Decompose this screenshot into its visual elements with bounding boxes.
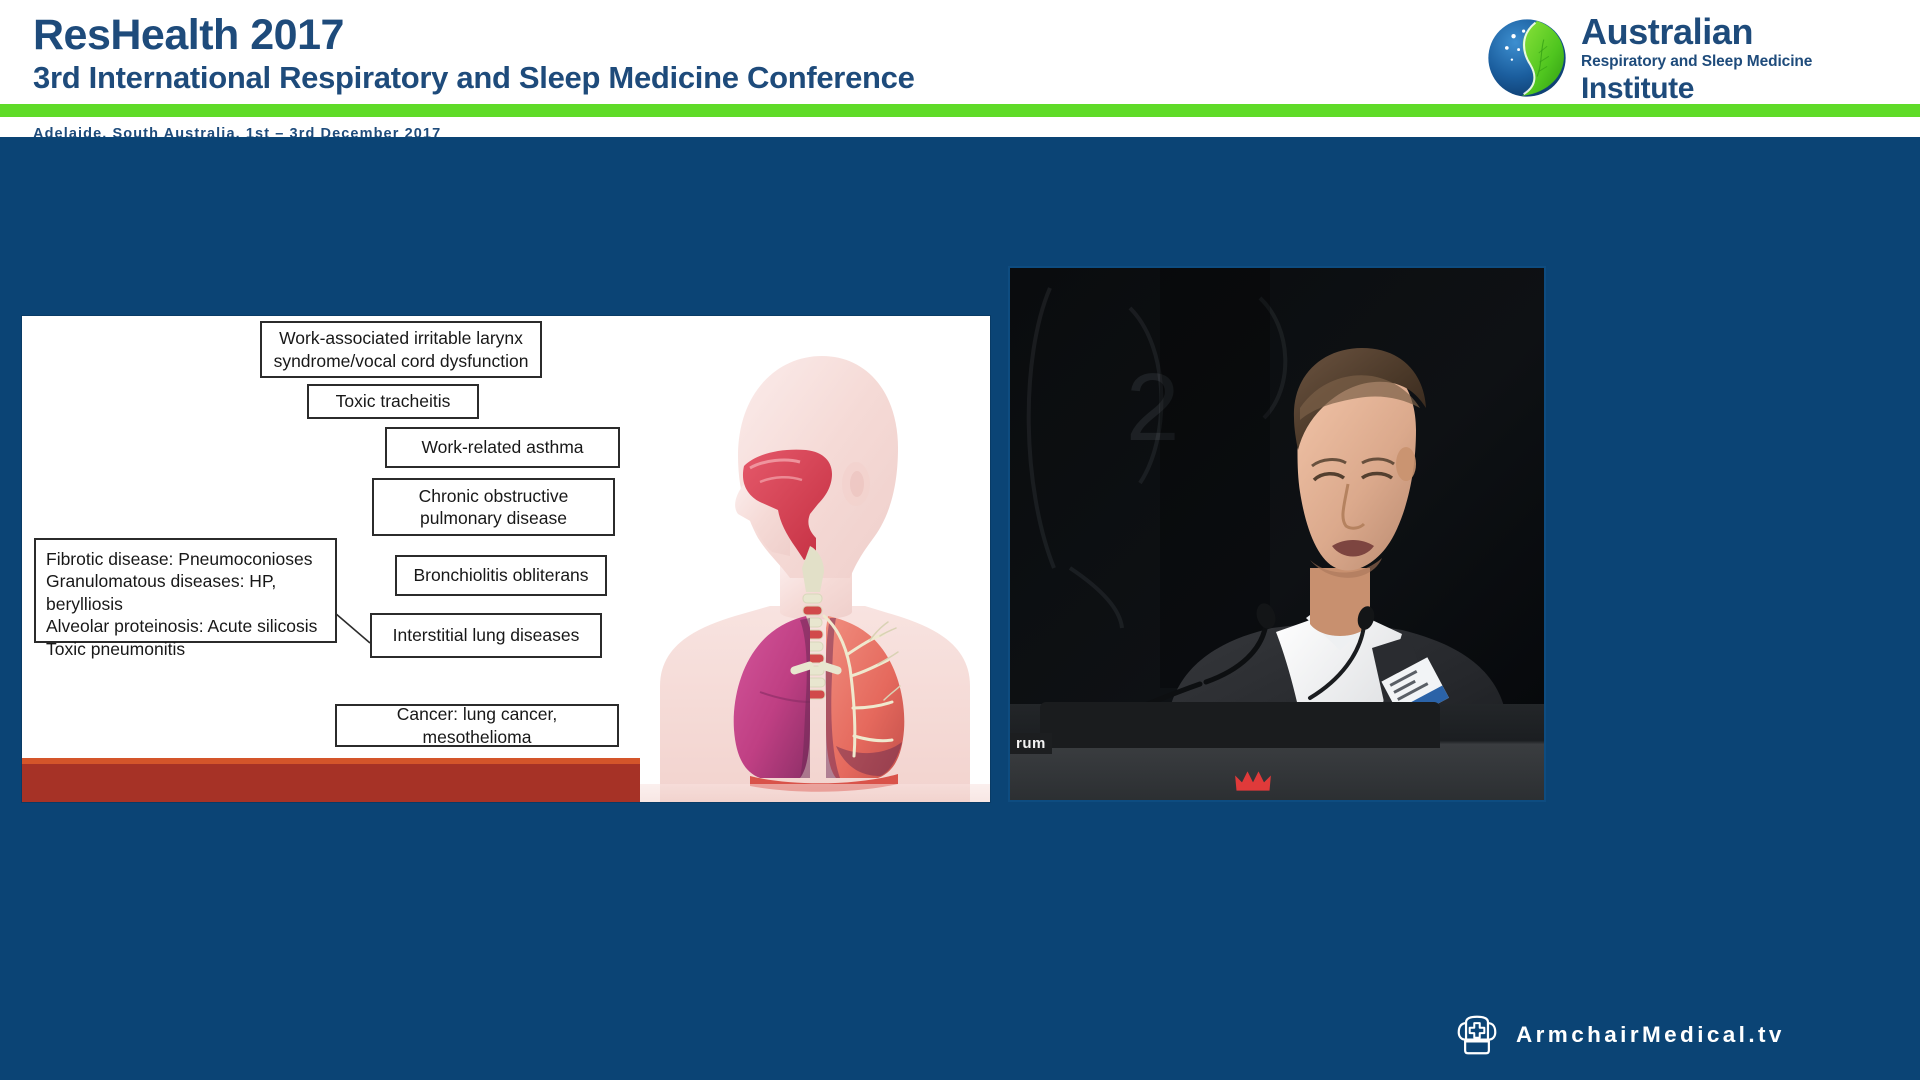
diagram-box-toxic-tracheitis[interactable]: Toxic tracheitis	[307, 384, 479, 419]
conference-location: Adelaide, South Australia. 1st – 3rd Dec…	[33, 126, 441, 137]
footer-brand-text: ArmchairMedical.tv	[1516, 1022, 1785, 1048]
box-label: Cancer: lung cancer, mesothelioma	[345, 703, 609, 748]
logo-line-respiratory: Respiratory and Sleep Medicine	[1581, 54, 1812, 70]
lectern	[1008, 704, 1546, 800]
box-label: Toxic tracheitis	[336, 390, 451, 412]
diagram-box-copd[interactable]: Chronic obstructive pulmonary disease	[372, 478, 615, 536]
detail-line: Fibrotic disease: Pneumoconioses	[46, 548, 317, 570]
box-label: Work-associated irritable larynx syndrom…	[270, 327, 532, 372]
diagram-box-bronchiolitis-obliterans[interactable]: Bronchiolitis obliterans	[395, 555, 607, 596]
diagram-box-work-related-asthma[interactable]: Work-related asthma	[385, 427, 620, 468]
header-accent-bar	[0, 104, 1920, 117]
slide-content: Occupational rhinitis: allergic / irrita…	[22, 316, 990, 802]
box-label: Bronchiolitis obliterans	[413, 564, 588, 586]
page-title: ResHealth 2017	[33, 14, 344, 57]
box-label: Interstitial lung diseases	[393, 624, 580, 646]
detail-line: Toxic pneumonitis	[46, 638, 317, 660]
logo-line-australian: Australian	[1581, 14, 1812, 50]
diagram-box-interstitial-lung-diseases[interactable]: Interstitial lung diseases	[370, 613, 602, 658]
presentation-viewer: ResHealth 2017 3rd International Respira…	[0, 0, 1920, 1080]
diagram-box-fibrotic-detail[interactable]: Fibrotic disease: Pneumoconioses Granulo…	[34, 538, 337, 643]
lectern-label: rum	[1010, 733, 1052, 754]
speaker-video-panel[interactable]: 2	[1008, 266, 1546, 802]
logo-line-institute: Institute	[1581, 74, 1812, 104]
arsi-logo-text: Australian Respiratory and Sleep Medicin…	[1581, 14, 1812, 104]
anatomy-svg	[640, 316, 990, 802]
slide-footer-bar-highlight	[22, 758, 642, 764]
slide-footer-bar	[22, 758, 642, 802]
footer-branding: ArmchairMedical.tv	[1455, 1012, 1785, 1058]
detail-line: Alveolar proteinosis: Acute silicosis	[46, 615, 317, 637]
fibrotic-detail-lines: Fibrotic disease: Pneumoconioses Granulo…	[46, 548, 317, 660]
arsi-yinyang-icon	[1485, 16, 1569, 100]
respiratory-anatomy-illustration	[640, 316, 990, 802]
box-label: Chronic obstructive pulmonary disease	[382, 485, 605, 530]
arsi-logo: Australian Respiratory and Sleep Medicin…	[1485, 14, 1895, 102]
crown-crest-icon	[1232, 770, 1274, 792]
conference-subtitle: 3rd International Respiratory and Sleep …	[33, 62, 915, 93]
lectern-top-panel	[1040, 702, 1440, 748]
box-label: Work-related asthma	[421, 436, 583, 458]
diagram-box-irritable-larynx[interactable]: Work-associated irritable larynx syndrom…	[260, 321, 542, 378]
conference-header: ResHealth 2017 3rd International Respira…	[0, 0, 1920, 137]
diagram-box-cancer[interactable]: Cancer: lung cancer, mesothelioma	[335, 704, 619, 747]
detail-line: berylliosis	[46, 593, 317, 615]
armchair-medical-icon	[1455, 1014, 1499, 1056]
detail-line: Granulomatous diseases: HP,	[46, 570, 317, 592]
